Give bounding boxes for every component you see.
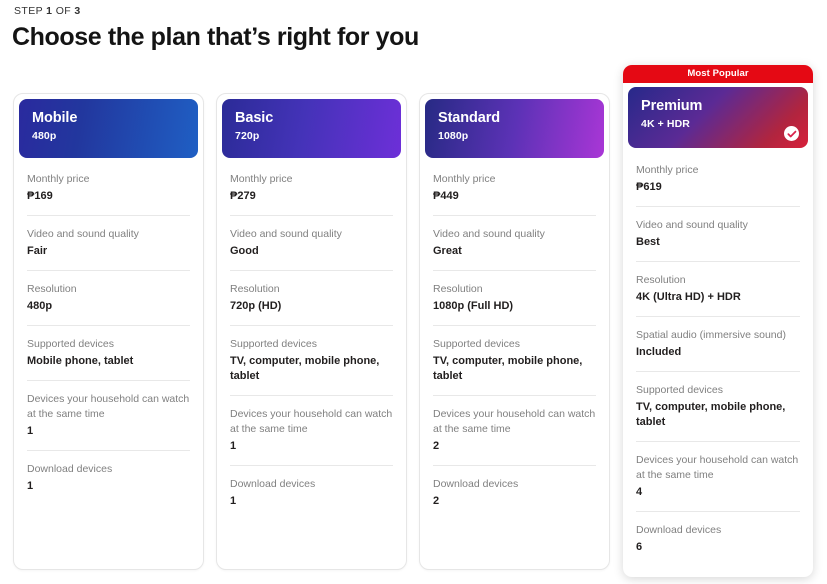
feature-label: Video and sound quality	[230, 227, 393, 244]
feature-label: Monthly price	[433, 172, 596, 189]
feature-value: 1	[27, 479, 190, 505]
feature-value: 2	[433, 439, 596, 465]
feature-row: Resolution720p (HD)	[230, 270, 393, 325]
feature-label: Devices your household can watch at the …	[433, 407, 596, 439]
plan-feature-list: Monthly price₱279Video and sound quality…	[217, 158, 406, 520]
feature-label: Supported devices	[230, 337, 393, 354]
feature-row: Supported devicesTV, computer, mobile ph…	[636, 371, 800, 441]
feature-row: Video and sound qualityGreat	[433, 215, 596, 270]
selected-check-icon	[784, 126, 799, 141]
feature-label: Download devices	[636, 523, 800, 540]
feature-label: Download devices	[27, 462, 190, 479]
feature-label: Devices your household can watch at the …	[27, 392, 190, 424]
plan-feature-list: Monthly price₱449Video and sound quality…	[420, 158, 609, 520]
feature-value: Mobile phone, tablet	[27, 354, 190, 380]
feature-row: Devices your household can watch at the …	[230, 395, 393, 465]
feature-label: Video and sound quality	[27, 227, 190, 244]
feature-row: Devices your household can watch at the …	[636, 441, 800, 511]
feature-label: Devices your household can watch at the …	[230, 407, 393, 439]
feature-row: Devices your household can watch at the …	[433, 395, 596, 465]
feature-row: Spatial audio (immersive sound)Included	[636, 316, 800, 371]
feature-row: Download devices2	[433, 465, 596, 520]
feature-row: Video and sound qualityBest	[636, 206, 800, 261]
feature-label: Resolution	[636, 273, 800, 290]
feature-label: Resolution	[433, 282, 596, 299]
plan-card-standard[interactable]: Standard1080pMonthly price₱449Video and …	[419, 93, 610, 570]
plan-name: Basic	[235, 110, 401, 127]
plan-quality-tag: 720p	[235, 130, 401, 143]
plan-name: Standard	[438, 110, 604, 127]
feature-row: Supported devicesTV, computer, mobile ph…	[433, 325, 596, 395]
feature-label: Supported devices	[636, 383, 800, 400]
plan-quality-tag: 1080p	[438, 130, 604, 143]
feature-value: Fair	[27, 244, 190, 270]
feature-value: 1	[27, 424, 190, 450]
feature-row: Resolution4K (Ultra HD) + HDR	[636, 261, 800, 316]
feature-label: Resolution	[27, 282, 190, 299]
feature-label: Monthly price	[636, 163, 800, 180]
feature-label: Monthly price	[27, 172, 190, 189]
plan-quality-tag: 480p	[32, 130, 198, 143]
plan-card-premium[interactable]: Most PopularPremium4K + HDRMonthly price…	[623, 65, 813, 577]
feature-value: TV, computer, mobile phone, tablet	[636, 400, 800, 441]
feature-value: 4K (Ultra HD) + HDR	[636, 290, 800, 316]
most-popular-badge: Most Popular	[623, 65, 813, 83]
feature-row: Download devices1	[27, 450, 190, 505]
plan-feature-list: Monthly price₱169Video and sound quality…	[14, 158, 203, 505]
step-indicator: STEP 1 OF 3	[14, 5, 814, 17]
feature-value: ₱449	[433, 189, 596, 215]
feature-value: 720p (HD)	[230, 299, 393, 325]
plan-quality-tag: 4K + HDR	[641, 118, 808, 131]
feature-label: Download devices	[230, 477, 393, 494]
feature-label: Supported devices	[433, 337, 596, 354]
plan-card-basic[interactable]: Basic720pMonthly price₱279Video and soun…	[216, 93, 407, 570]
feature-value: ₱169	[27, 189, 190, 215]
feature-value: 480p	[27, 299, 190, 325]
feature-row: Supported devicesTV, computer, mobile ph…	[230, 325, 393, 395]
feature-value: TV, computer, mobile phone, tablet	[230, 354, 393, 395]
plan-banner-premium[interactable]: Premium4K + HDR	[628, 87, 808, 148]
plan-feature-list: Monthly price₱619Video and sound quality…	[623, 148, 813, 566]
feature-label: Devices your household can watch at the …	[636, 453, 800, 485]
feature-row: Monthly price₱619	[636, 148, 800, 206]
feature-row: Monthly price₱449	[433, 158, 596, 215]
feature-label: Download devices	[433, 477, 596, 494]
feature-value: Included	[636, 345, 800, 371]
feature-row: Monthly price₱279	[230, 158, 393, 215]
feature-row: Supported devicesMobile phone, tablet	[27, 325, 190, 380]
feature-row: Monthly price₱169	[27, 158, 190, 215]
feature-label: Monthly price	[230, 172, 393, 189]
feature-value: 1080p (Full HD)	[433, 299, 596, 325]
feature-value: 1	[230, 494, 393, 520]
plan-banner-mobile[interactable]: Mobile480p	[19, 99, 198, 158]
feature-label: Video and sound quality	[433, 227, 596, 244]
feature-label: Resolution	[230, 282, 393, 299]
plan-card-mobile[interactable]: Mobile480pMonthly price₱169Video and sou…	[13, 93, 204, 570]
plan-name: Mobile	[32, 110, 198, 127]
page-title: Choose the plan that’s right for you	[12, 22, 814, 53]
plan-selection-page: STEP 1 OF 3 Choose the plan that’s right…	[0, 5, 827, 584]
step-indicator-text: STEP 1 OF 3	[14, 5, 81, 17]
plan-banner-standard[interactable]: Standard1080p	[425, 99, 604, 158]
feature-row: Video and sound qualityGood	[230, 215, 393, 270]
feature-value: ₱279	[230, 189, 393, 215]
feature-label: Video and sound quality	[636, 218, 800, 235]
feature-row: Resolution480p	[27, 270, 190, 325]
plan-card-list: Mobile480pMonthly price₱169Video and sou…	[13, 65, 814, 575]
feature-row: Devices your household can watch at the …	[27, 380, 190, 450]
feature-label: Spatial audio (immersive sound)	[636, 328, 800, 345]
feature-value: 6	[636, 540, 800, 566]
plan-name: Premium	[641, 98, 808, 115]
feature-value: Best	[636, 235, 800, 261]
feature-value: 1	[230, 439, 393, 465]
feature-value: Good	[230, 244, 393, 270]
feature-value: 2	[433, 494, 596, 520]
feature-label: Supported devices	[27, 337, 190, 354]
feature-row: Download devices1	[230, 465, 393, 520]
feature-row: Resolution1080p (Full HD)	[433, 270, 596, 325]
feature-row: Video and sound qualityFair	[27, 215, 190, 270]
feature-value: ₱619	[636, 180, 800, 206]
plan-banner-basic[interactable]: Basic720p	[222, 99, 401, 158]
feature-row: Download devices6	[636, 511, 800, 566]
feature-value: 4	[636, 485, 800, 511]
feature-value: TV, computer, mobile phone, tablet	[433, 354, 596, 395]
feature-value: Great	[433, 244, 596, 270]
